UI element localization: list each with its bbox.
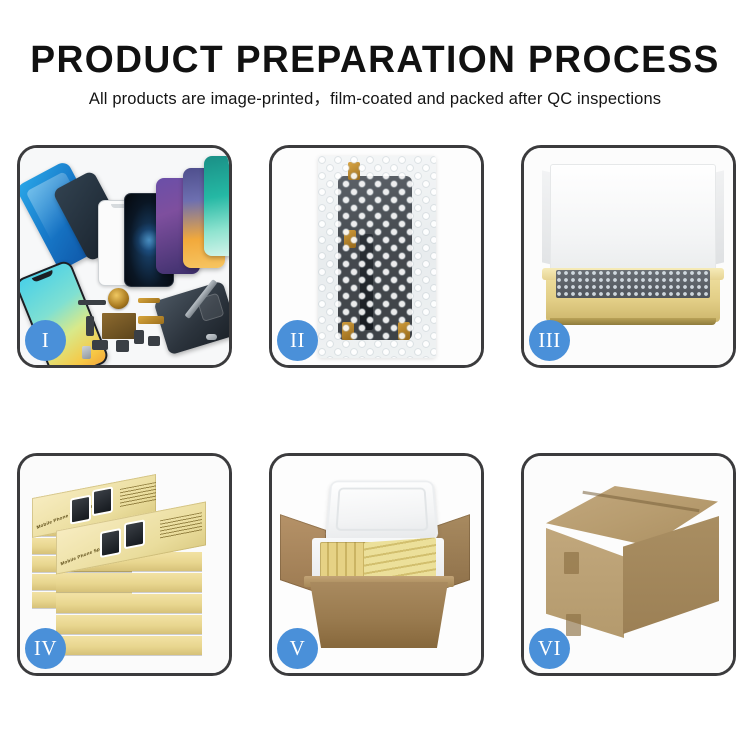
part-connector-icon xyxy=(86,316,94,336)
teal-phone-icon xyxy=(204,156,229,256)
process-step-panel-5: V xyxy=(269,453,484,676)
header: PRODUCT PREPARATION PROCESS All products… xyxy=(0,0,750,109)
process-step-panel-3: III xyxy=(521,145,736,368)
page-title: PRODUCT PREPARATION PROCESS xyxy=(8,0,743,80)
box-window-front-2 xyxy=(126,522,143,547)
step-badge-5: V xyxy=(277,628,318,669)
step-badge-6: VI xyxy=(529,628,570,669)
page-subtitle: All products are image-printed，film-coat… xyxy=(0,80,750,109)
product-preparation-infographic: PRODUCT PREPARATION PROCESS All products… xyxy=(0,0,750,750)
stack-box-front-5 xyxy=(56,636,202,655)
bubble-padding-inside-icon xyxy=(556,270,710,298)
process-step-panel-6: VI xyxy=(521,453,736,676)
part-strip-icon xyxy=(78,300,106,305)
part-button-icon xyxy=(82,346,91,359)
box-print-lines-front xyxy=(160,512,202,540)
chip-array-icon xyxy=(102,313,136,339)
speaker-coil-icon xyxy=(108,288,129,309)
part-bracket-icon xyxy=(134,330,144,344)
box-window-back-2 xyxy=(94,489,111,514)
screw-icon xyxy=(206,334,217,340)
box-white-lid-icon xyxy=(550,164,716,280)
step-badge-3: III xyxy=(529,320,570,361)
bubble-wrap-bag-icon xyxy=(318,156,436,358)
process-step-panel-2: II xyxy=(269,145,484,368)
box-window-front-1 xyxy=(102,530,119,555)
part-module-icon xyxy=(116,340,129,352)
box-base-shadow-icon xyxy=(550,318,716,325)
stack-box-front-3 xyxy=(56,594,202,613)
part-sensor-icon xyxy=(148,336,160,346)
carton-front-panel-icon xyxy=(310,582,448,648)
process-step-panel-4: Mobile Phone Spare Parts Mobile Phone Sp… xyxy=(17,453,232,676)
box-print-lines-back xyxy=(120,481,156,509)
carton-tape-upper-icon xyxy=(564,552,579,574)
bubble-texture-overlay xyxy=(318,156,436,358)
step-badge-2: II xyxy=(277,320,318,361)
step-badge-4: IV xyxy=(25,628,66,669)
step-badge-1: I xyxy=(25,320,66,361)
carton-tape-lower-icon xyxy=(566,614,581,636)
part-gold-flex-icon xyxy=(138,298,160,303)
stack-box-front-4 xyxy=(56,615,202,634)
part-camera-icon xyxy=(92,340,108,350)
process-step-panel-1: I xyxy=(17,145,232,368)
part-flex-cable-icon xyxy=(138,316,164,324)
box-window-back-1 xyxy=(72,497,89,522)
foam-box-lid-icon xyxy=(325,481,438,541)
stack-box-front-2 xyxy=(56,573,202,592)
process-step-grid: I II xyxy=(17,145,737,676)
